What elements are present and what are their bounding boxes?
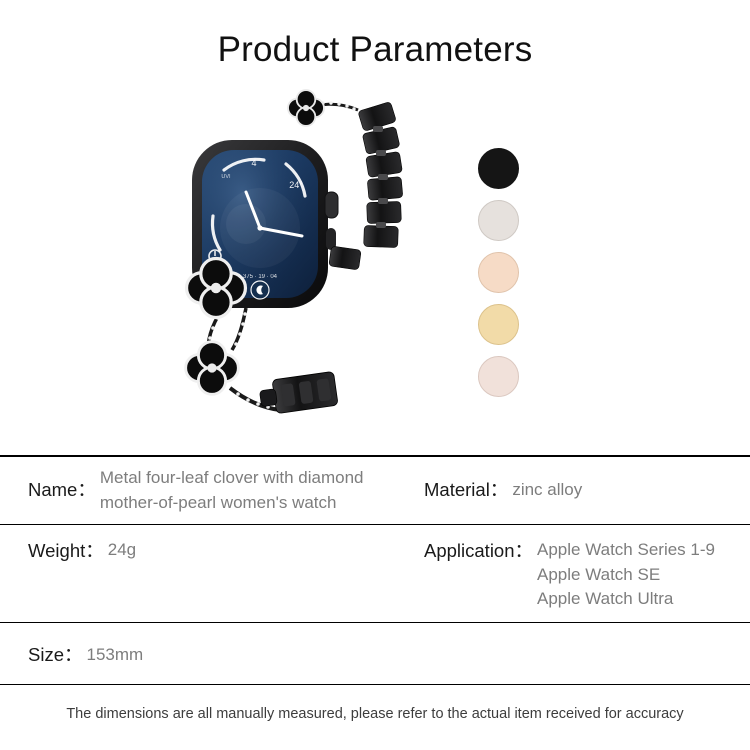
spec-cell-material: Material： zinc alloy <box>418 457 750 524</box>
color-swatch-black[interactable] <box>478 148 519 189</box>
spec-value-line: Apple Watch SE <box>537 563 715 588</box>
spec-table: Name： Metal four-leaf clover with diamon… <box>0 455 750 685</box>
spec-value-name: Metal four-leaf clover with diamond moth… <box>100 466 364 515</box>
spec-value-line: zinc alloy <box>512 478 582 503</box>
spec-label-application: Application： <box>424 538 533 565</box>
svg-text:375 · 19 · 04: 375 · 19 · 04 <box>243 274 278 280</box>
page-title: Product Parameters <box>0 30 750 70</box>
table-row: Weight： 24g Application： Apple Watch Ser… <box>0 525 750 623</box>
svg-text:UVI: UVI <box>221 174 231 180</box>
clover-charm-bottom <box>186 342 239 395</box>
spec-cell-application: Application： Apple Watch Series 1-9 Appl… <box>418 525 750 622</box>
spec-value-line: 153mm <box>87 643 144 668</box>
svg-text:24°: 24° <box>289 180 303 190</box>
color-swatch-gold[interactable] <box>478 304 519 345</box>
spec-cell-empty <box>418 623 750 684</box>
table-row: Name： Metal four-leaf clover with diamon… <box>0 457 750 525</box>
spec-value-line: Apple Watch Ultra <box>537 587 715 612</box>
spec-value-line: Apple Watch Series 1-9 <box>537 538 715 563</box>
hero-section: 4 24° UVI 375 · 19 · <box>0 88 750 438</box>
spec-label-weight: Weight： <box>28 538 104 565</box>
spec-value-size: 153mm <box>87 643 144 668</box>
spec-cell-weight: Weight： 24g <box>0 525 418 622</box>
footer-note: The dimensions are all manually measured… <box>0 706 750 722</box>
table-row: Size： 153mm <box>0 623 750 685</box>
spec-value-line: 24g <box>108 538 136 563</box>
color-swatch-light-pink[interactable] <box>478 356 519 397</box>
spec-label-size: Size： <box>28 642 83 669</box>
spec-value-weight: 24g <box>108 538 136 563</box>
color-swatch-rose-peach[interactable] <box>478 252 519 293</box>
spec-value-material: zinc alloy <box>512 478 582 503</box>
product-image: 4 24° UVI 375 · 19 · <box>168 88 448 428</box>
clover-charm-top <box>288 90 324 126</box>
color-swatch-list[interactable] <box>478 148 538 397</box>
spec-value-line: mother-of-pearl women's watch <box>100 491 364 516</box>
moon-complication-icon <box>251 281 269 299</box>
color-swatch-silver-white[interactable] <box>478 200 519 241</box>
svg-text:4: 4 <box>251 158 256 168</box>
spec-cell-size: Size： 153mm <box>0 623 418 684</box>
clasp-link <box>329 246 361 270</box>
watch-band-upper <box>358 101 403 247</box>
spec-cell-name: Name： Metal four-leaf clover with diamon… <box>0 457 418 524</box>
spec-label-material: Material： <box>424 477 508 504</box>
spec-value-line: Metal four-leaf clover with diamond <box>100 466 364 491</box>
spec-label-name: Name： <box>28 477 96 504</box>
spec-value-application: Apple Watch Series 1-9 Apple Watch SE Ap… <box>537 538 715 612</box>
